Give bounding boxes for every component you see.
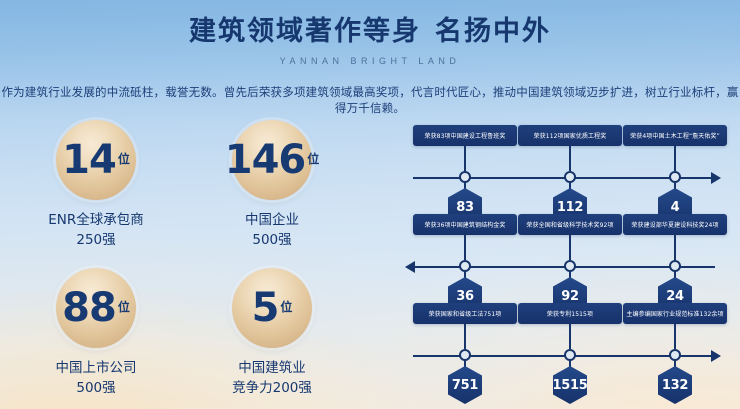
stat-card: 5 位 中国建筑业 竞争力200强 [184,268,360,399]
stat-medallion: 88 位 [56,268,136,348]
award-label: 荣获全国和省级科学技术奖92项 [518,214,622,235]
stat-number: 5 [252,288,279,328]
award-node[interactable]: 荣获112项国家优质工程奖 112 [518,125,622,146]
stat-label: ENR全球承包商 250强 [8,210,184,251]
stat-label-line1: 中国上市公司 [56,360,137,376]
award-count-value: 92 [561,289,579,304]
stat-medallion: 14 位 [56,120,136,200]
stat-label-line1: 中国建筑业 [238,360,306,376]
award-count-value: 36 [456,289,474,304]
stat-label-line2: 250强 [8,230,184,250]
stat-card: 146 位 中国企业 500强 [184,120,360,251]
award-count-badge: 1515 [553,366,587,404]
stat-card: 88 位 中国上市公司 500强 [8,268,184,399]
award-node[interactable]: 荣获36项中国建筑钢结构金奖 36 [413,214,517,235]
page-title: 建筑领域著作等身名扬中外 [0,16,740,48]
award-timeline-row: 荣获国家和省级工法751项 751 荣获专利1515项 1515 主编参编国家行… [386,303,732,392]
stat-label-line2: 500强 [8,378,184,398]
stat-unit: 位 [307,150,319,167]
award-node[interactable]: 荣获全国和省级科学技术奖92项 92 [518,214,622,235]
arrow-left-icon [405,261,415,273]
award-count-value: 112 [557,200,583,215]
page-subtitle: YANNAN BRIGHT LAND [0,56,740,66]
award-timeline-row: 荣获36项中国建筑钢结构金奖 36 荣获全国和省级科学技术奖92项 92 荣获建… [386,214,732,303]
award-count-badge: 132 [658,366,692,404]
stat-label-line1: ENR全球承包商 [48,212,144,228]
stat-medallion: 146 位 [232,120,312,200]
stat-label: 中国建筑业 竞争力200强 [184,358,360,399]
award-count-value: 751 [452,378,478,393]
stat-label-line2: 竞争力200强 [184,378,360,398]
node-stem [674,146,676,171]
node-stem [464,324,466,349]
award-label: 荣获建设部华夏建设科技奖24项 [623,214,727,235]
stats-row: 14 位 ENR全球承包商 250强 146 位 中国企业 500强 [8,120,360,251]
stat-label: 中国企业 500强 [184,210,360,251]
award-label: 荣获4项中国土木工程“詹天佑奖” [623,125,727,146]
node-stem [569,146,571,171]
infographic-banner: 建筑领域著作等身名扬中外 YANNAN BRIGHT LAND 作为建筑行业发展… [0,0,740,409]
award-label: 荣获83项中国建设工程鲁班奖 [413,125,517,146]
stat-unit: 位 [118,298,130,315]
stat-label-line1: 中国企业 [245,212,299,228]
stat-label-line2: 500强 [184,230,360,250]
stat-card: 14 位 ENR全球承包商 250强 [8,120,184,251]
node-stem [464,146,466,171]
node-stem [464,235,466,260]
page-title-part2: 名扬中外 [435,16,551,47]
node-stem [569,235,571,260]
award-label: 荣获国家和省级工法751项 [413,303,517,324]
node-stem [569,324,571,349]
award-node[interactable]: 荣获国家和省级工法751项 751 [413,303,517,324]
award-timelines: 荣获83项中国建设工程鲁班奖 83 荣获112项国家优质工程奖 112 荣获4项… [386,125,732,392]
award-label: 主编参编国家行业规范标准132余项 [623,303,727,324]
stat-medallion: 5 位 [232,268,312,348]
award-label: 荣获专利1515项 [518,303,622,324]
stat-unit: 位 [280,298,292,315]
award-label: 荣获112项国家优质工程奖 [518,125,622,146]
award-node[interactable]: 荣获83项中国建设工程鲁班奖 83 [413,125,517,146]
arrow-right-icon [711,172,721,184]
award-node[interactable]: 主编参编国家行业规范标准132余项 132 [623,303,727,324]
award-count-value: 1515 [553,378,588,393]
stat-number: 14 [62,140,116,180]
stat-number: 146 [225,140,306,180]
page-title-part1: 建筑领域著作等身 [189,16,421,47]
award-node[interactable]: 荣获4项中国土木工程“詹天佑奖” 4 [623,125,727,146]
award-count-badge: 751 [448,366,482,404]
stats-grid: 14 位 ENR全球承包商 250强 146 位 中国企业 500强 [8,120,360,398]
award-node[interactable]: 荣获专利1515项 1515 [518,303,622,324]
award-timeline-row: 荣获83项中国建设工程鲁班奖 83 荣获112项国家优质工程奖 112 荣获4项… [386,125,732,214]
award-count-value: 4 [671,200,680,215]
award-count-value: 132 [662,378,688,393]
stat-number: 88 [62,288,116,328]
award-count-value: 83 [456,200,474,215]
award-count-value: 24 [666,289,684,304]
stats-row: 88 位 中国上市公司 500强 5 位 中国建筑业 竞争力200强 [8,268,360,399]
award-node[interactable]: 荣获建设部华夏建设科技奖24项 24 [623,214,727,235]
award-label: 荣获36项中国建筑钢结构金奖 [413,214,517,235]
node-stem [674,324,676,349]
header: 建筑领域著作等身名扬中外 YANNAN BRIGHT LAND [0,0,740,66]
stat-unit: 位 [118,150,130,167]
page-description: 作为建筑行业发展的中流砥柱，载誉无数。曾先后荣获多项建筑领域最高奖项，代言时代匠… [0,84,740,116]
stat-label: 中国上市公司 500强 [8,358,184,399]
arrow-right-icon [711,350,721,362]
node-stem [674,235,676,260]
